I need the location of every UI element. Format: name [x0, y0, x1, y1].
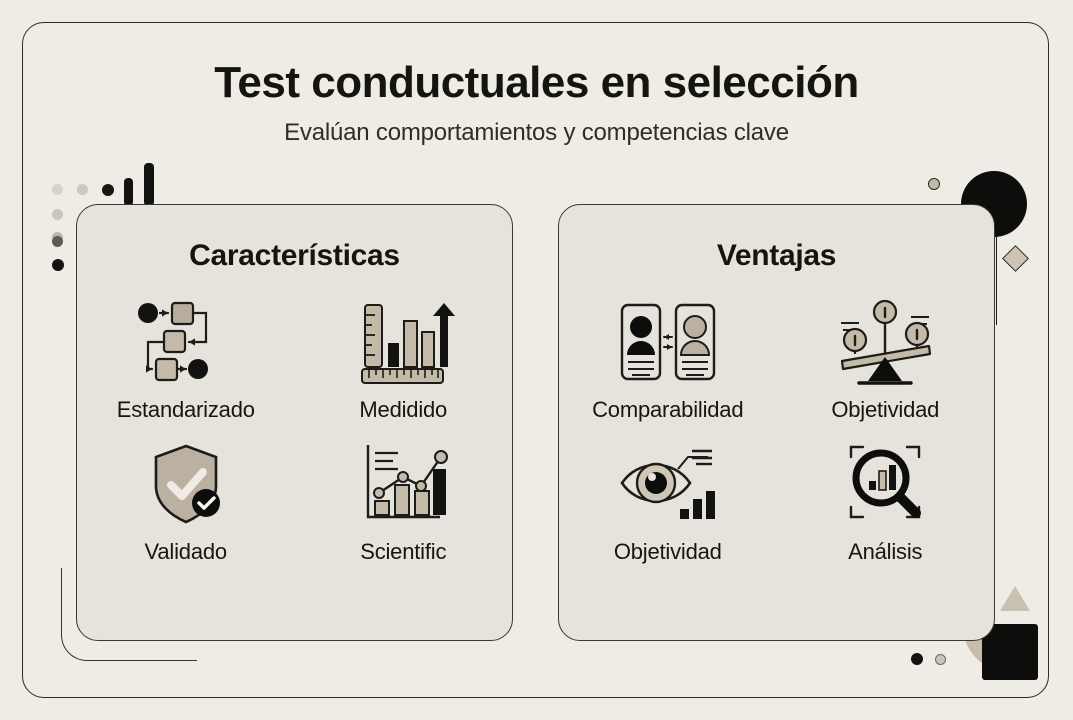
balance-scale-icon: [833, 299, 937, 385]
card-title-ventajas: Ventajas: [559, 239, 994, 273]
advantage-objetividad-eye[interactable]: Objetividad: [559, 441, 777, 565]
advantage-label: Objetividad: [614, 539, 722, 565]
shield-check-icon: [134, 441, 238, 527]
advantage-label: Objetividad: [831, 397, 939, 423]
deco-bar-tall: [144, 163, 154, 206]
line-bar-chart-icon: [351, 441, 455, 527]
deco-bar-short: [124, 178, 133, 206]
eye-analytics-icon: [616, 441, 720, 527]
card-title-caracteristicas: Características: [77, 239, 512, 273]
advantage-analisis[interactable]: Análisis: [777, 441, 995, 565]
card-ventajas: Ventajas: [558, 204, 995, 641]
deco-dot-v4: [52, 236, 63, 247]
advantage-label: Análisis: [848, 539, 922, 565]
flowchart-icon: [134, 299, 238, 385]
advantage-objetividad-balance[interactable]: Objetividad: [777, 299, 995, 423]
card-caracteristicas: Características: [76, 204, 513, 641]
feature-label: Estandarizado: [117, 397, 255, 423]
magnifier-chart-icon: [833, 441, 937, 527]
ruler-chart-icon: [351, 299, 455, 385]
deco-dot-h2: [77, 184, 88, 195]
deco-dot-v5: [52, 259, 64, 271]
feature-label: Validado: [145, 539, 227, 565]
page-subtitle: Evalúan comportamientos y competencias c…: [0, 119, 1073, 147]
deco-diamond: [1002, 245, 1029, 272]
deco-dot-h3: [102, 184, 114, 196]
feature-medidido[interactable]: Medidido: [295, 299, 513, 423]
deco-triangle: [1000, 586, 1030, 611]
advantage-label: Comparabilidad: [592, 397, 743, 423]
deco-bottom-dot-2: [935, 654, 946, 665]
advantage-comparabilidad[interactable]: Comparabilidad: [559, 299, 777, 423]
deco-dot-v1: [52, 209, 63, 220]
feature-validado[interactable]: Validado: [77, 441, 295, 565]
feature-scientific[interactable]: Scientific: [295, 441, 513, 565]
deco-bottom-dot-1: [911, 653, 923, 665]
deco-small-circle: [928, 178, 940, 190]
page-title: Test conductuales en selección: [0, 58, 1073, 109]
card-grid-ventajas: Comparabilidad: [559, 299, 994, 565]
feature-label: Scientific: [360, 539, 446, 565]
infographic-canvas: Test conductuales en selección Evalúan c…: [0, 0, 1073, 720]
header: Test conductuales en selección Evalúan c…: [0, 58, 1073, 147]
profile-compare-icon: [616, 299, 720, 385]
card-grid-caracteristicas: Estandarizado: [77, 299, 512, 565]
feature-estandarizado[interactable]: Estandarizado: [77, 299, 295, 423]
feature-label: Medidido: [359, 397, 447, 423]
deco-dot-h1: [52, 184, 63, 195]
